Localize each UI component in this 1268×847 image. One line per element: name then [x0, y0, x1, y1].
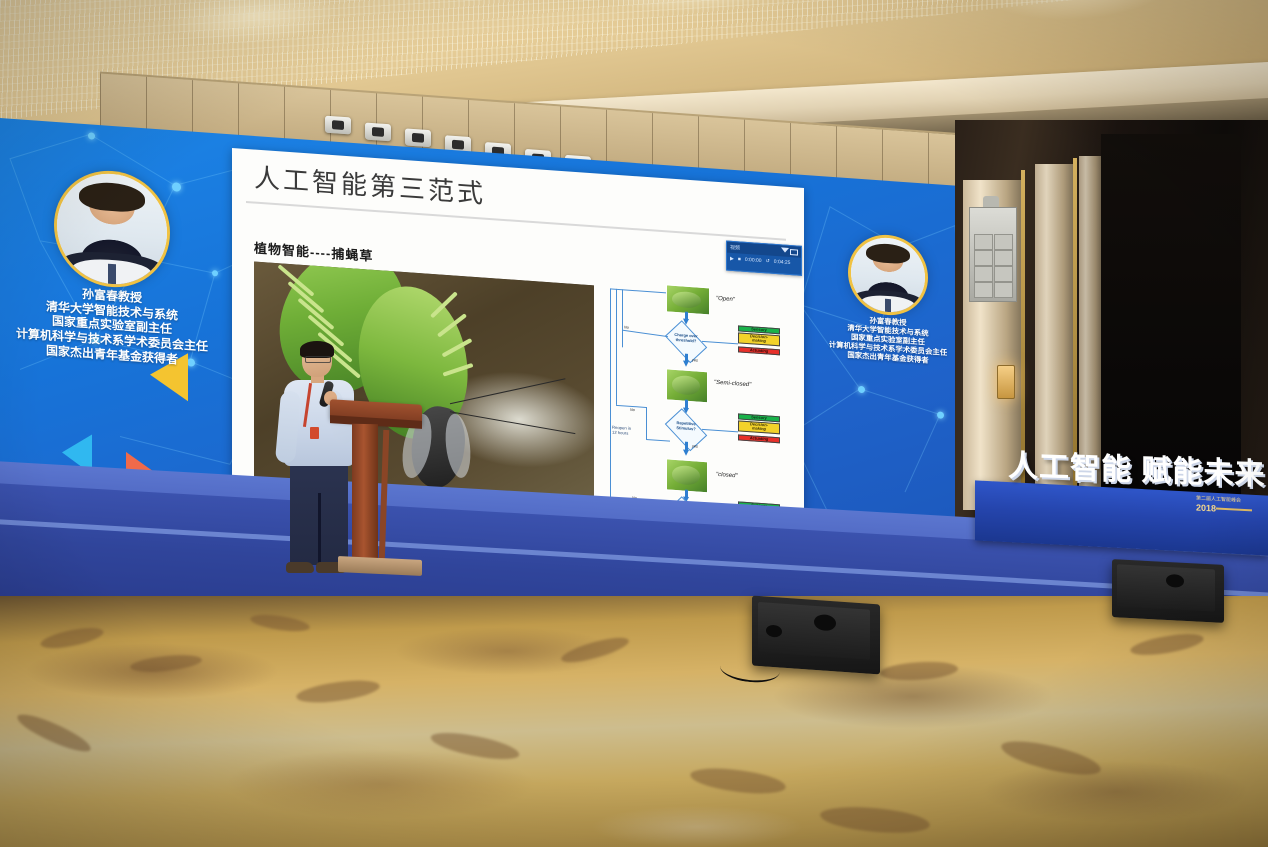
speaker-driver-cell [974, 282, 993, 298]
flow-note-reopen-12h: Reopen in 12 hours [612, 425, 631, 437]
player-tag: 视频 [730, 243, 740, 251]
play-icon[interactable]: ▶ [730, 256, 734, 262]
avatar-face [851, 235, 925, 314]
feedback-bus [622, 289, 623, 347]
player-time-total: 0:04:25 [774, 259, 791, 266]
decision-yes-1: yes [692, 358, 698, 362]
module-decision: Decision-making [738, 420, 780, 434]
wifi-icon [781, 247, 789, 253]
speaker-info-text: 孙富春教授 清华大学智能技术与系统 国家重点实验室副主任 计算机科学与技术系学术… [6, 282, 218, 370]
network-node [88, 132, 95, 139]
glasses-icon [305, 356, 331, 363]
state-label-open: "Open" [716, 296, 735, 303]
decision-text-1: Charge over threshold? [658, 332, 714, 345]
conference-stage-photo: 孙富春教授 清华大学智能技术与系统 国家重点实验室副主任 计算机科学与技术系学术… [0, 0, 1268, 847]
media-player-overlay[interactable]: 视频 ▶ ■ 0:00:00 ↺ 0:04:25 [726, 241, 802, 276]
carpet-pattern [0, 596, 1268, 847]
feedback-bus [646, 439, 670, 441]
speaker-driver-cell [994, 250, 1013, 266]
network-node [858, 386, 865, 393]
stage-logo-text: 人工智能 赋能未来 [1008, 441, 1265, 494]
avatar [57, 170, 167, 288]
speaker-info-panel-left: 孙富春教授 清华大学智能技术与系统 国家重点实验室副主任 计算机科学与技术系学术… [6, 153, 218, 370]
monitor-driver [766, 625, 782, 638]
feedback-bus [610, 288, 611, 510]
speaker-info-panel-right: 孙富春教授 清华大学智能技术与系统 国家重点实验室副主任 计算机科学与技术系学术… [812, 227, 964, 368]
decision-no-2: No [630, 408, 635, 412]
state-label-semi-closed: "Semi-closed" [714, 380, 751, 389]
presenter-leg-split [318, 493, 321, 563]
stop-icon[interactable]: ■ [738, 256, 741, 262]
feedback-bus [616, 289, 617, 405]
flow-arrow-down [683, 361, 689, 367]
slide-title: 人工智能第三范式 [254, 158, 486, 211]
speaker-driver-cell [974, 234, 993, 250]
avatar-tie [885, 298, 891, 312]
wall-sconce-lamp [997, 365, 1015, 399]
module-actuating: Actuating [738, 434, 780, 443]
presenter-shoe [286, 562, 314, 573]
stage-light-icon [325, 116, 351, 135]
speaker-driver-cell [974, 266, 993, 282]
network-node [937, 411, 944, 418]
badge-year: 2018 [1196, 502, 1216, 513]
state-image-open [666, 284, 710, 315]
monitor-grille [1117, 564, 1215, 611]
state-label-closed: "closed" [716, 472, 738, 480]
feedback-bus [646, 407, 647, 439]
line-array-speaker [969, 207, 1017, 302]
flow-arrow-down [683, 450, 689, 456]
decision-yes-2: yes [692, 444, 698, 448]
speaker-driver-cell [974, 250, 993, 266]
avatar-hair [866, 242, 910, 264]
player-time-current: 0:00:00 [745, 257, 762, 264]
avatar-face [57, 170, 167, 288]
speaker-driver-cell [994, 266, 1013, 282]
state-image-closed [666, 458, 708, 493]
stage-light-icon [405, 128, 431, 147]
battery-icon [790, 249, 798, 256]
avatar-tie [108, 264, 117, 284]
monitor-driver [1166, 574, 1184, 588]
slide-subtitle: 植物智能----捕蝇草 [254, 238, 373, 265]
player-title-bar: 视频 [727, 242, 801, 258]
speaker-driver-cell [994, 234, 1013, 250]
ballroom-carpet [0, 596, 1268, 847]
avatar-hair [79, 180, 145, 213]
decision-text-2: Repetitive Stimulus? [658, 420, 714, 433]
avatar [851, 235, 925, 314]
state-image-semi-closed [666, 368, 708, 403]
presenter-badge [310, 427, 319, 439]
module-decision: Decision-making [738, 332, 780, 346]
speaker-driver-cell [994, 282, 1013, 298]
badge-rule [1216, 508, 1252, 512]
player-control-row[interactable]: ▶ ■ 0:00:00 ↺ 0:04:25 [730, 256, 798, 267]
stage-monitor-right [1112, 559, 1224, 623]
slide-title-divider [246, 201, 786, 241]
stage-logo-badge: 第二届人工智能峰会 2018 [1196, 494, 1254, 519]
podium-column [352, 424, 378, 564]
loop-icon[interactable]: ↺ [766, 258, 770, 264]
feedback-bus [610, 288, 668, 293]
module-actuating: Actuating [738, 346, 780, 355]
stage-light-icon [365, 122, 391, 141]
